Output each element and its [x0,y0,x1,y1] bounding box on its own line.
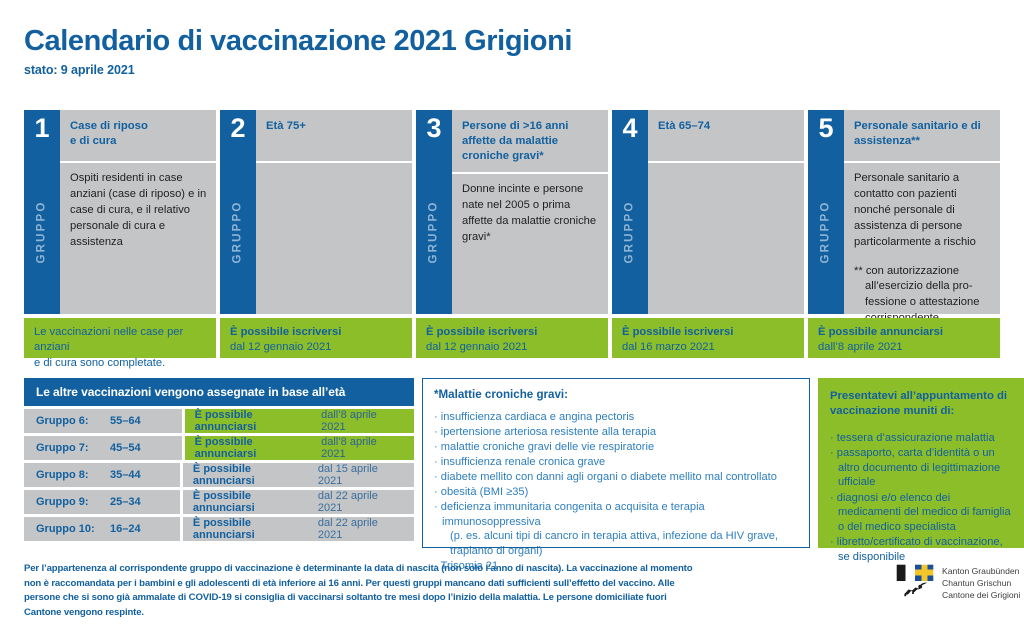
list-item: · insufficienza cardiaca e angina pector… [434,410,798,425]
group-heading: Case di riposoe di cura [60,110,216,163]
age-row-status-headline: È possibile annunciarsi [195,409,318,433]
age-row-label: Gruppo 7:45–54 [24,436,182,460]
canton-logo: Kanton Graubünden Chantun Grischun Canto… [896,564,1020,602]
canton-names: Kanton Graubünden Chantun Grischun Canto… [942,564,1020,602]
age-row-range: 55–64 [110,415,172,427]
group-status-headline: È possibile iscriversi [230,325,402,340]
age-row-status-headline: È possibile annunciarsi [195,436,318,460]
group-number: 4 [612,114,648,142]
bring-item-text: diagnosi e/o elenco dei medicamenti del … [837,492,1011,534]
group-number-tab: 1GRUPPO [24,110,60,314]
age-row-range: 25–34 [110,496,170,508]
group-status-date: e di cura sono completate. [34,356,206,371]
group-status-headline: È possibile iscriversi [426,325,598,340]
list-item: · libretto/certificato di vaccinazione, … [830,535,1012,565]
age-row-status: È possibile annunciarsidall’8 aprile 202… [185,436,414,460]
group-status-banner: È possibile iscriversidal 16 marzo 2021 [612,318,804,358]
group-status-date: dal 12 gennaio 2021 [230,340,402,355]
age-row-status-headline: È possibile annunciarsi [193,463,314,487]
group-card-main: 1GRUPPOCase di riposoe di curaOspiti res… [24,110,216,314]
group-status-headline: È possibile iscriversi [622,325,794,340]
group-number: 1 [24,114,60,142]
chronic-item-text: insufficienza renale cronica grave [441,456,605,468]
group-description [648,163,804,314]
group-number: 3 [416,114,452,142]
bring-item-text: libretto/certificato di vaccinazione, se… [837,536,1003,563]
table-row: Gruppo 9:25–34È possibile annunciarsidal… [24,490,414,514]
group-card-body: Età 65–74 [648,110,804,314]
list-item: · insufficienza renale cronica grave [434,455,798,470]
group-card-main: 3GRUPPOPersone di >16 anni affette da ma… [416,110,608,314]
group-status-date: dall’8 aprile 2021 [818,340,990,355]
group-status-banner: È possibile iscriversidal 12 gennaio 202… [416,318,608,358]
page-title: Calendario di vaccinazione 2021 Grigioni [24,26,572,56]
chronic-item-subtext: (p. es. alcuni tipi di cancro in terapia… [442,529,798,558]
table-row: Gruppo 7:45–54È possibile annunciarsidal… [24,436,414,460]
age-row-label: Gruppo 9:25–34 [24,490,180,514]
group-status-banner: È possibile annunciarsidall’8 aprile 202… [808,318,1000,358]
canton-name-it: Cantone dei Grigioni [942,589,1020,601]
group-word-vertical: GRUPPO [24,154,60,310]
header: Calendario di vaccinazione 2021 Grigioni… [24,26,572,77]
table-row: Gruppo 8:35–44È possibile annunciarsidal… [24,463,414,487]
group-description [256,163,412,314]
group-card-body: Case di riposoe di curaOspiti residenti … [60,110,216,314]
age-row-group: Gruppo 8: [36,469,110,481]
group-card-body: Persone di >16 anni affette da malattie … [452,110,608,314]
group-status-banner: È possibile iscriversidal 12 gennaio 202… [220,318,412,358]
age-row-label: Gruppo 6:55–64 [24,409,182,433]
age-row-status: È possibile annunciarsidal 15 aprile 202… [183,463,414,487]
group-description: Personale sanitario a contatto con pazie… [844,163,1000,336]
chronic-item-text: obesità (BMI ≥35) [441,486,528,498]
page-subtitle: stato: 9 aprile 2021 [24,63,572,77]
group-word-label: GRUPPO [232,200,244,263]
group-description: Ospiti residenti in case anziani (case d… [60,163,216,314]
list-item: · malattie croniche gravi delle vie resp… [434,440,798,455]
group-word-label: GRUPPO [428,200,440,263]
age-row-label: Gruppo 10:16–24 [24,517,180,541]
chronic-item-text: deficienza immunitaria congenita o acqui… [441,501,705,528]
bring-documents-title: Presentatevi all’appuntamento di vaccina… [830,389,1012,420]
group-word-vertical: GRUPPO [612,154,648,310]
canton-name-rm: Chantun Grischun [942,577,1020,589]
priority-group-card: 2GRUPPOEtà 75+È possibile iscriversidal … [220,110,412,358]
group-card-main: 4GRUPPOEtà 65–74 [612,110,804,314]
list-item: · deficienza immunitaria congenita o acq… [434,500,798,558]
group-word-vertical: GRUPPO [220,154,256,310]
group-heading: Età 65–74 [648,110,804,163]
group-word-label: GRUPPO [624,200,636,263]
group-number-tab: 4GRUPPO [612,110,648,314]
age-row-status-date: dal 22 aprile 2021 [318,517,404,541]
group-number-tab: 2GRUPPO [220,110,256,314]
list-item: · obesità (BMI ≥35) [434,485,798,500]
group-heading: Età 75+ [256,110,412,163]
priority-group-card: 5GRUPPOPersonale sanitario e di assisten… [808,110,1000,358]
group-heading: Persone di >16 anni affette da malattie … [452,110,608,174]
priority-group-card: 1GRUPPOCase di riposoe di curaOspiti res… [24,110,216,358]
age-row-status-date: dall’8 aprile 2021 [321,436,404,460]
age-row-status-headline: È possibile annunciarsi [193,490,314,514]
age-row-status: È possibile annunciarsidal 22 aprile 202… [183,490,414,514]
age-row-status: È possibile annunciarsidal 22 aprile 202… [183,517,414,541]
group-card-body: Età 75+ [256,110,412,314]
chronic-item-text: insufficienza cardiaca e angina pectoris [441,411,634,423]
bring-item-text: tessera d’assicurazione malattia [837,432,995,444]
chronic-diseases-title: *Malattie croniche gravi: [434,388,798,401]
group-card-body: Personale sanitario e di assistenza**Per… [844,110,1000,314]
age-row-group: Gruppo 9: [36,496,110,508]
group-description: Donne incinte e persone nate nel 2005 o … [452,174,608,314]
priority-groups-row: 1GRUPPOCase di riposoe di curaOspiti res… [24,110,1000,358]
age-row-range: 45–54 [110,442,172,454]
chronic-diseases-box: *Malattie croniche gravi: · insufficienz… [422,378,810,548]
priority-group-card: 3GRUPPOPersone di >16 anni affette da ma… [416,110,608,358]
list-item: · passaporto, carta d’identità o un altr… [830,446,1012,490]
group-number: 5 [808,114,844,142]
list-item: · diabete mellito con danni agli organi … [434,470,798,485]
group-description-text: Donne incinte e persone nate nel 2005 o … [462,182,599,246]
age-row-status-date: dal 15 aprile 2021 [318,463,404,487]
bring-documents-box: Presentatevi all’appuntamento di vaccina… [818,378,1024,548]
bring-documents-list: · tessera d’assicurazione malattia· pass… [830,431,1012,565]
footnote-text: Per l’appartenenza al corrispondente gru… [24,562,694,620]
group-number: 2 [220,114,256,142]
chronic-item-text: malattie croniche gravi delle vie respir… [441,441,654,453]
age-row-group: Gruppo 10: [36,523,110,535]
table-row: Gruppo 10:16–24È possibile annunciarsida… [24,517,414,541]
age-groups-table: Le altre vaccinazioni vengono assegnate … [24,378,414,541]
chronic-diseases-list: · insufficienza cardiaca e angina pector… [434,410,798,573]
group-word-vertical: GRUPPO [808,154,844,310]
age-row-range: 35–44 [110,469,170,481]
group-number-tab: 3GRUPPO [416,110,452,314]
group-word-vertical: GRUPPO [416,154,452,310]
list-item: · tessera d’assicurazione malattia [830,431,1012,446]
vaccination-calendar-poster: Calendario di vaccinazione 2021 Grigioni… [0,0,1024,640]
group-status-date: dal 12 gennaio 2021 [426,340,598,355]
group-word-label: GRUPPO [820,200,832,263]
group-description-text: Personale sanitario a contatto con pazie… [854,171,991,251]
canton-name-de: Kanton Graubünden [942,565,1020,577]
group-word-label: GRUPPO [36,200,48,263]
age-row-group: Gruppo 7: [36,442,110,454]
list-item: · ipertensione arteriosa resistente alla… [434,425,798,440]
age-row-status-headline: È possibile annunciarsi [193,517,314,541]
group-number-tab: 5GRUPPO [808,110,844,314]
group-heading: Personale sanitario e di assistenza** [844,110,1000,163]
age-row-label: Gruppo 8:35–44 [24,463,180,487]
age-row-range: 16–24 [110,523,170,535]
chronic-item-text: diabete mellito con danni agli organi o … [441,471,777,483]
group-status-headline: Le vaccinazioni nelle case per anziani [34,325,206,356]
group-card-main: 5GRUPPOPersonale sanitario e di assisten… [808,110,1000,314]
group-card-main: 2GRUPPOEtà 75+ [220,110,412,314]
group-status-headline: È possibile annunciarsi [818,325,990,340]
age-row-status-date: dall’8 aprile 2021 [321,409,404,433]
group-status-date: dal 16 marzo 2021 [622,340,794,355]
group-status-banner: Le vaccinazioni nelle case per anzianie … [24,318,216,358]
age-row-status-date: dal 22 aprile 2021 [318,490,404,514]
coat-of-arms-icon [896,564,934,598]
group-description-text: Ospiti residenti in case anziani (case d… [70,171,207,251]
age-row-group: Gruppo 6: [36,415,110,427]
list-item: · diagnosi e/o elenco dei medicamenti de… [830,491,1012,535]
bring-item-text: passaporto, carta d’identità o un altro … [837,447,1000,489]
table-row: Gruppo 6:55–64È possibile annunciarsidal… [24,409,414,433]
chronic-item-text: ipertensione arteriosa resistente alla t… [441,426,656,438]
priority-group-card: 4GRUPPOEtà 65–74È possibile iscriversida… [612,110,804,358]
age-table-title: Le altre vaccinazioni vengono assegnate … [24,378,414,406]
age-row-status: È possibile annunciarsidall’8 aprile 202… [185,409,414,433]
